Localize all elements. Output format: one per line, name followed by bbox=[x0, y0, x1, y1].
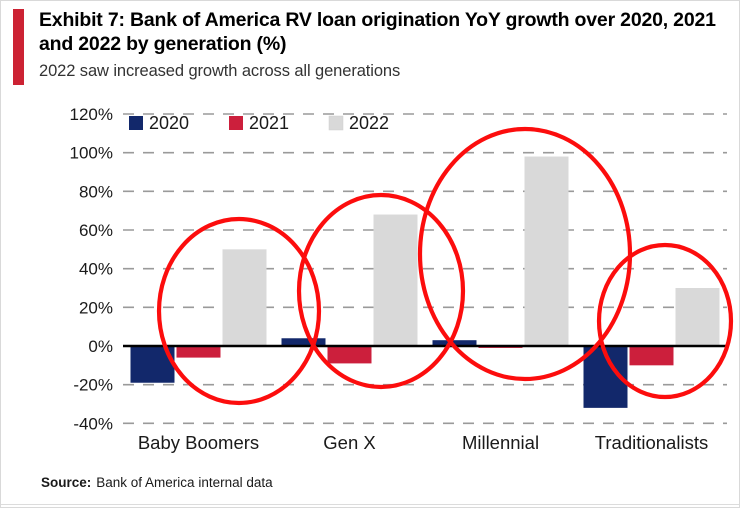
chart-header: Exhibit 7: Bank of America RV loan origi… bbox=[1, 1, 740, 97]
y-tick-label-100: 100% bbox=[70, 144, 113, 163]
bar-traditionalists-2021 bbox=[630, 346, 674, 365]
y-tick-label-80: 80% bbox=[79, 182, 113, 201]
y-tick-label-40: 40% bbox=[79, 260, 113, 279]
y-axis-tick-labels: 120%100%80%60%40%20%0%-20%-40% bbox=[70, 105, 113, 433]
x-label-traditionalists: Traditionalists bbox=[595, 432, 708, 453]
bar-gen-x-2021 bbox=[328, 346, 372, 363]
x-label-millennial: Millennial bbox=[462, 432, 539, 453]
legend-swatch-2021[interactable] bbox=[229, 116, 243, 130]
bar-traditionalists-2022 bbox=[676, 288, 720, 346]
chart-plot-area: 120%100%80%60%40%20%0%-20%-40% Baby Boom… bbox=[1, 97, 740, 457]
legend-swatch-2022[interactable] bbox=[329, 116, 343, 130]
y-tick-label-20: 20% bbox=[79, 298, 113, 317]
bar-baby-boomers-2021 bbox=[177, 346, 221, 358]
bar-millennial-2022 bbox=[525, 157, 569, 346]
source-text: Bank of America internal data bbox=[96, 475, 272, 490]
bar-gen-x-2022 bbox=[374, 215, 418, 346]
x-label-gen-x: Gen X bbox=[323, 432, 375, 453]
legend-swatch-2020[interactable] bbox=[129, 116, 143, 130]
footer-divider bbox=[1, 504, 740, 505]
y-tick-label-60: 60% bbox=[79, 221, 113, 240]
chart-subtitle: 2022 saw increased growth across all gen… bbox=[39, 62, 719, 81]
y-tick-label--20: -20% bbox=[73, 376, 113, 395]
legend-label-2020[interactable]: 2020 bbox=[149, 113, 189, 133]
source-line: Source:Bank of America internal data bbox=[41, 475, 273, 490]
y-tick-label-0: 0% bbox=[88, 337, 113, 356]
x-label-baby-boomers: Baby Boomers bbox=[138, 432, 259, 453]
gridlines-group bbox=[123, 114, 727, 423]
chart-title: Exhibit 7: Bank of America RV loan origi… bbox=[39, 9, 719, 57]
chart-legend: 202020212022 bbox=[129, 113, 389, 133]
y-tick-label-120: 120% bbox=[70, 105, 113, 124]
accent-bar bbox=[13, 9, 24, 85]
legend-label-2022[interactable]: 2022 bbox=[349, 113, 389, 133]
title-block: Exhibit 7: Bank of America RV loan origi… bbox=[39, 9, 719, 81]
bar-baby-boomers-2022 bbox=[223, 249, 267, 346]
chart-svg: 120%100%80%60%40%20%0%-20%-40% Baby Boom… bbox=[1, 97, 740, 457]
y-tick-label--40: -40% bbox=[73, 414, 113, 433]
chart-page: Exhibit 7: Bank of America RV loan origi… bbox=[0, 0, 740, 508]
source-label: Source: bbox=[41, 475, 91, 490]
legend-label-2021[interactable]: 2021 bbox=[249, 113, 289, 133]
chart-footer: Source:Bank of America internal data bbox=[1, 471, 740, 508]
x-axis-category-labels: Baby BoomersGen XMillennialTraditionalis… bbox=[138, 432, 708, 453]
